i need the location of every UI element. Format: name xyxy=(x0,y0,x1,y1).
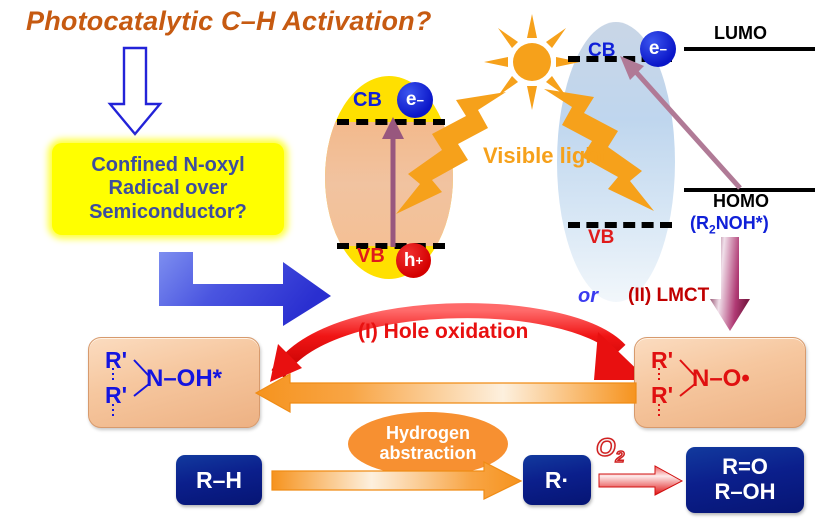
hole-charge: + xyxy=(416,253,424,268)
radical-box: R· xyxy=(523,455,591,505)
molecule-box-right: R' R' N–O• xyxy=(634,337,806,428)
electron-charge: − xyxy=(416,93,424,108)
hollow-down-arrow xyxy=(100,46,170,138)
hole-badge-left: h+ xyxy=(396,243,431,278)
lumo-line xyxy=(684,47,815,51)
homo-species-label: (R2NOH*) xyxy=(690,213,769,237)
molecule-structure-right: R' R' N–O• xyxy=(635,338,805,427)
valence-band-line-right xyxy=(568,222,672,228)
homo-species-pre: (R xyxy=(690,213,709,233)
oxygen-label: O2 xyxy=(596,434,624,467)
electron-symbol: e xyxy=(406,89,417,111)
product-box: R=O R–OH xyxy=(686,447,804,513)
oxidation-arrow-red xyxy=(599,466,683,496)
cb-label-right: CB xyxy=(588,40,615,62)
electron-badge-left: e− xyxy=(397,82,433,118)
product-lines: R=O R–OH xyxy=(714,455,775,504)
hydrogen-abstraction-text: Hydrogen abstraction xyxy=(379,424,476,464)
homo-species-post: NOH*) xyxy=(716,213,769,233)
visible-light-label: Visible light xyxy=(483,143,606,169)
lmct-down-arrow xyxy=(708,235,752,335)
oxygen-subscript: 2 xyxy=(615,449,624,466)
question-line-2: Radical over xyxy=(89,177,247,201)
vb-label-right: VB xyxy=(588,227,614,249)
diagram-canvas: Photocatalytic C–H Activation? Confined … xyxy=(0,0,831,529)
molecule-structure-left: R' R' N–OH* xyxy=(89,338,259,427)
hole-oxidation-label: (I) Hole oxidation xyxy=(358,320,528,344)
homo-label: HOMO xyxy=(713,191,769,212)
molecule-box-left: R' R' N–OH* xyxy=(88,337,260,428)
abstraction-arrow-orange xyxy=(272,462,522,500)
hydrogen-abstraction-line-1: Hydrogen xyxy=(379,424,476,444)
return-arrow-orange xyxy=(256,372,638,414)
hydrogen-abstraction-line-2: abstraction xyxy=(379,444,476,464)
lmct-transfer-arrow xyxy=(614,52,744,192)
molecule-bonds-left xyxy=(89,338,259,427)
lumo-label: LUMO xyxy=(714,23,767,44)
vb-label-left: VB xyxy=(357,245,385,268)
or-label: or xyxy=(578,285,598,308)
product-line-1: R=O xyxy=(714,455,775,480)
reactant-box: R–H xyxy=(176,455,262,505)
oxygen-symbol: O xyxy=(596,434,615,462)
page-title: Photocatalytic C–H Activation? xyxy=(26,6,432,37)
lmct-label: (II) LMCT xyxy=(628,285,709,307)
cb-label-left: CB xyxy=(353,89,382,112)
question-box-text: Confined N-oxyl Radical over Semiconduct… xyxy=(89,154,247,225)
product-line-2: R–OH xyxy=(714,480,775,505)
molecule-bonds-right xyxy=(635,338,805,427)
hole-symbol: h xyxy=(404,250,416,272)
question-line-3: Semiconductor? xyxy=(89,201,247,225)
excitation-arrow-left xyxy=(380,115,406,249)
question-line-1: Confined N-oxyl xyxy=(89,154,247,178)
question-box: Confined N-oxyl Radical over Semiconduct… xyxy=(52,143,284,235)
